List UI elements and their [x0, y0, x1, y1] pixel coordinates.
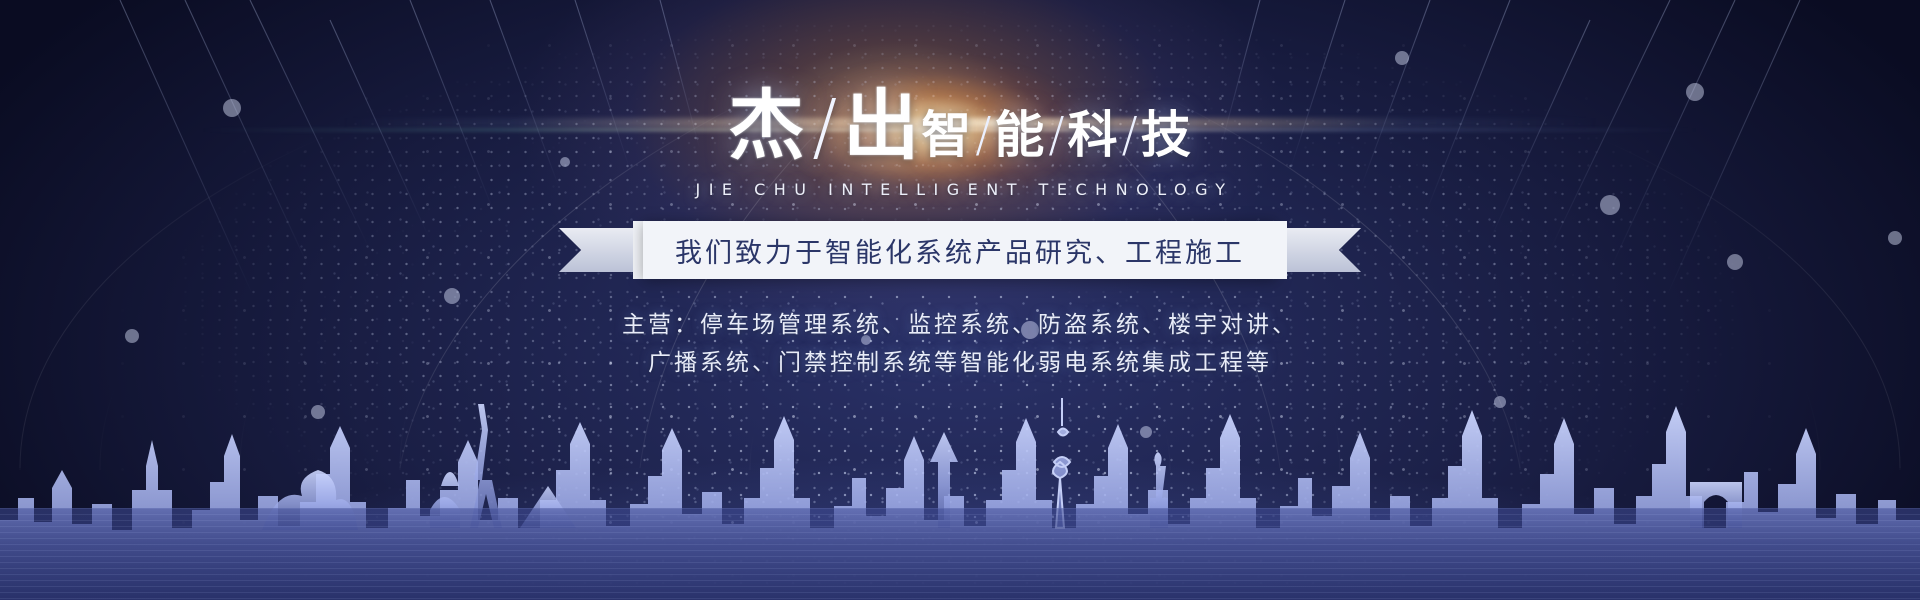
- hero-banner: 杰 / 出 智 / 能 / 科 / 技 JIE CHU INTELLIGENT …: [0, 0, 1920, 600]
- ribbon-body: 我们致力于智能化系统产品研究、工程施工: [643, 221, 1277, 279]
- title-char-ji: 技: [1141, 110, 1192, 164]
- ribbon-tail-right: [1287, 228, 1361, 272]
- description-block: 主营：停车场管理系统、监控系统、防盗系统、楼宇对讲、 广播系统、门禁控制系统等智…: [622, 307, 1298, 383]
- description-line-2: 广播系统、门禁控制系统等智能化弱电系统集成工程等: [622, 345, 1298, 383]
- ribbon-tail-left: [559, 228, 633, 272]
- english-subtitle: JIE CHU INTELLIGENT TECHNOLOGY: [686, 180, 1233, 199]
- title-slash-3: /: [1048, 111, 1064, 164]
- page-title: 杰 / 出 智 / 能 / 科 / 技: [728, 88, 1191, 164]
- title-char-chu: 出: [843, 88, 921, 164]
- banner-content: 杰 / 出 智 / 能 / 科 / 技 JIE CHU INTELLIGENT …: [0, 0, 1920, 600]
- ribbon-notch-left: [633, 221, 643, 279]
- title-slash-4: /: [1122, 111, 1138, 164]
- ribbon-banner: 我们致力于智能化系统产品研究、工程施工: [559, 221, 1361, 279]
- ribbon-text: 我们致力于智能化系统产品研究、工程施工: [675, 231, 1245, 270]
- title-slash-1: /: [812, 90, 837, 164]
- title-char-jie: 杰: [728, 88, 806, 164]
- title-char-neng: 能: [994, 110, 1045, 164]
- ribbon-notch-right: [1277, 221, 1287, 279]
- title-char-zhi: 智: [921, 110, 972, 164]
- description-line-1: 主营：停车场管理系统、监控系统、防盗系统、楼宇对讲、: [622, 307, 1298, 345]
- title-char-ke: 科: [1068, 110, 1119, 164]
- title-slash-2: /: [975, 111, 991, 164]
